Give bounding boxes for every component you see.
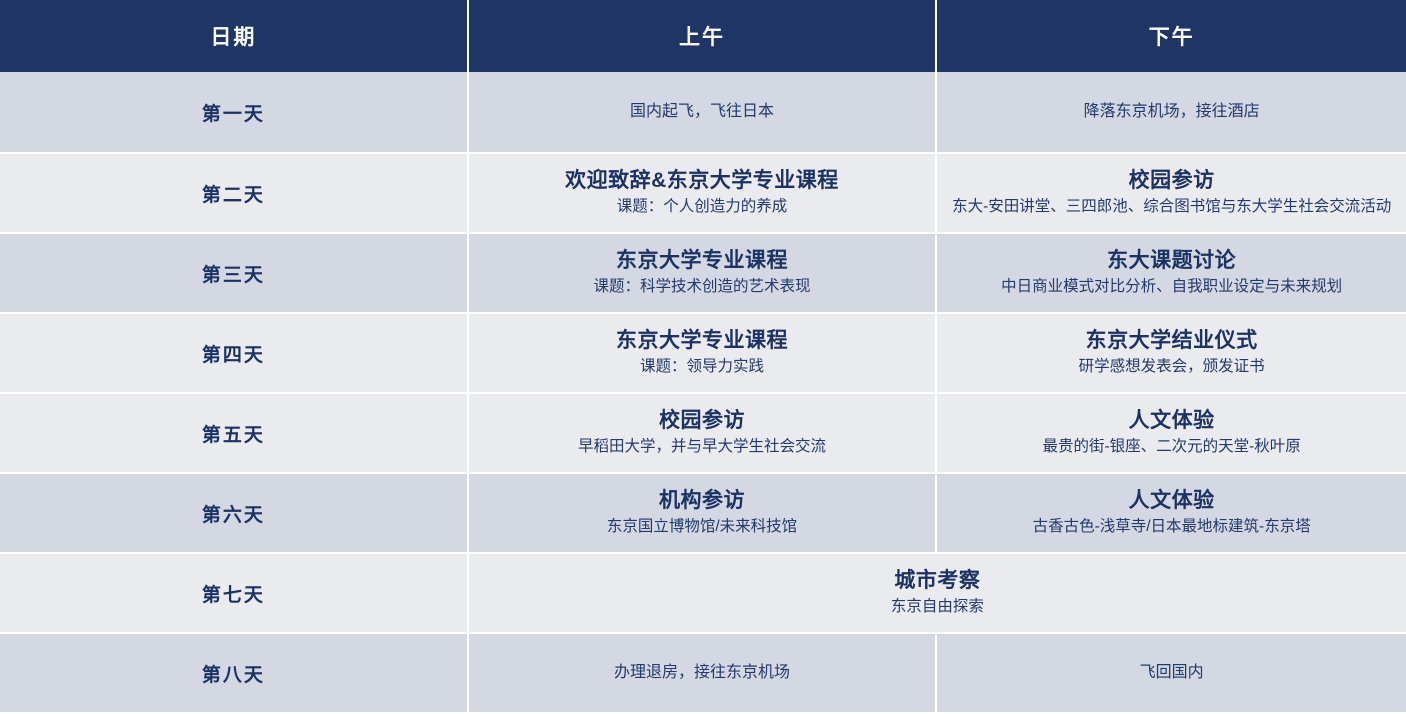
- cell-title: 城市考察: [479, 567, 1396, 594]
- column-header-date: 日期: [0, 0, 469, 72]
- cell-title: 东京大学专业课程: [479, 327, 926, 354]
- cell-title: 校园参访: [947, 167, 1396, 194]
- cell-title: 校园参访: [479, 407, 926, 434]
- day-label: 第七天: [0, 554, 469, 634]
- cell-subtitle: 课题：科学技术创造的艺术表现: [479, 276, 926, 298]
- morning-cell: 机构参访 东京国立博物馆/未来科技馆: [469, 474, 938, 554]
- cell-text: 降落东京机场，接往酒店: [947, 101, 1396, 123]
- afternoon-cell: 飞回国内: [937, 634, 1406, 714]
- cell-title: 机构参访: [479, 487, 926, 514]
- cell-title: 东京大学结业仪式: [947, 327, 1396, 354]
- morning-cell: 校园参访 早稻田大学，并与早大学生社会交流: [469, 394, 938, 474]
- afternoon-cell: 人文体验 最贵的街-银座、二次元的天堂-秋叶原: [937, 394, 1406, 474]
- morning-cell: 东京大学专业课程 课题：领导力实践: [469, 314, 938, 394]
- header-row: 日期 上午 下午: [0, 0, 1406, 72]
- cell-subtitle: 东大-安田讲堂、三四郎池、综合图书馆与东大学生社会交流活动: [947, 196, 1396, 218]
- column-header-morning: 上午: [469, 0, 938, 72]
- cell-subtitle: 研学感想发表会，颁发证书: [947, 356, 1396, 378]
- cell-title: 欢迎致辞&东京大学专业课程: [479, 167, 926, 194]
- cell-subtitle: 课题：个人创造力的养成: [479, 196, 926, 218]
- table-body: 第一天 国内起飞，飞往日本 降落东京机场，接往酒店 第二天 欢迎致辞&东京大学专…: [0, 72, 1406, 714]
- cell-title: 人文体验: [947, 487, 1396, 514]
- cell-subtitle: 东京国立博物馆/未来科技馆: [479, 516, 926, 538]
- table-row: 第五天 校园参访 早稻田大学，并与早大学生社会交流 人文体验 最贵的街-银座、二…: [0, 394, 1406, 474]
- day-label: 第二天: [0, 154, 469, 234]
- cell-text: 国内起飞，飞往日本: [479, 101, 926, 123]
- morning-cell: 国内起飞，飞往日本: [469, 72, 938, 154]
- cell-subtitle: 中日商业模式对比分析、自我职业设定与未来规划: [947, 276, 1396, 298]
- table-row: 第二天 欢迎致辞&东京大学专业课程 课题：个人创造力的养成 校园参访 东大-安田…: [0, 154, 1406, 234]
- cell-subtitle: 古香古色-浅草寺/日本最地标建筑-东京塔: [947, 516, 1396, 538]
- afternoon-cell: 东京大学结业仪式 研学感想发表会，颁发证书: [937, 314, 1406, 394]
- full-day-cell: 城市考察 东京自由探索: [469, 554, 1406, 634]
- table-row: 第四天 东京大学专业课程 课题：领导力实践 东京大学结业仪式 研学感想发表会，颁…: [0, 314, 1406, 394]
- afternoon-cell: 东大课题讨论 中日商业模式对比分析、自我职业设定与未来规划: [937, 234, 1406, 314]
- table-row: 第一天 国内起飞，飞往日本 降落东京机场，接往酒店: [0, 72, 1406, 154]
- table-row: 第七天 城市考察 东京自由探索: [0, 554, 1406, 634]
- day-label: 第三天: [0, 234, 469, 314]
- column-header-afternoon: 下午: [937, 0, 1406, 72]
- cell-subtitle: 东京自由探索: [479, 596, 1396, 618]
- afternoon-cell: 降落东京机场，接往酒店: [937, 72, 1406, 154]
- cell-subtitle: 课题：领导力实践: [479, 356, 926, 378]
- day-label: 第一天: [0, 72, 469, 154]
- day-label: 第八天: [0, 634, 469, 714]
- day-label: 第四天: [0, 314, 469, 394]
- day-label: 第五天: [0, 394, 469, 474]
- cell-subtitle: 早稻田大学，并与早大学生社会交流: [479, 436, 926, 458]
- table-header: 日期 上午 下午: [0, 0, 1406, 72]
- afternoon-cell: 人文体验 古香古色-浅草寺/日本最地标建筑-东京塔: [937, 474, 1406, 554]
- morning-cell: 欢迎致辞&东京大学专业课程 课题：个人创造力的养成: [469, 154, 938, 234]
- table-row: 第八天 办理退房，接往东京机场 飞回国内: [0, 634, 1406, 714]
- itinerary-table: 日期 上午 下午 第一天 国内起飞，飞往日本 降落东京机场，接往酒店 第二天 欢…: [0, 0, 1406, 714]
- cell-text: 飞回国内: [947, 662, 1396, 684]
- day-label: 第六天: [0, 474, 469, 554]
- cell-title: 东大课题讨论: [947, 247, 1396, 274]
- table-row: 第三天 东京大学专业课程 课题：科学技术创造的艺术表现 东大课题讨论 中日商业模…: [0, 234, 1406, 314]
- table-row: 第六天 机构参访 东京国立博物馆/未来科技馆 人文体验 古香古色-浅草寺/日本最…: [0, 474, 1406, 554]
- morning-cell: 办理退房，接往东京机场: [469, 634, 938, 714]
- afternoon-cell: 校园参访 东大-安田讲堂、三四郎池、综合图书馆与东大学生社会交流活动: [937, 154, 1406, 234]
- cell-text: 办理退房，接往东京机场: [479, 662, 926, 684]
- cell-subtitle: 最贵的街-银座、二次元的天堂-秋叶原: [947, 436, 1396, 458]
- cell-title: 人文体验: [947, 407, 1396, 434]
- cell-title: 东京大学专业课程: [479, 247, 926, 274]
- morning-cell: 东京大学专业课程 课题：科学技术创造的艺术表现: [469, 234, 938, 314]
